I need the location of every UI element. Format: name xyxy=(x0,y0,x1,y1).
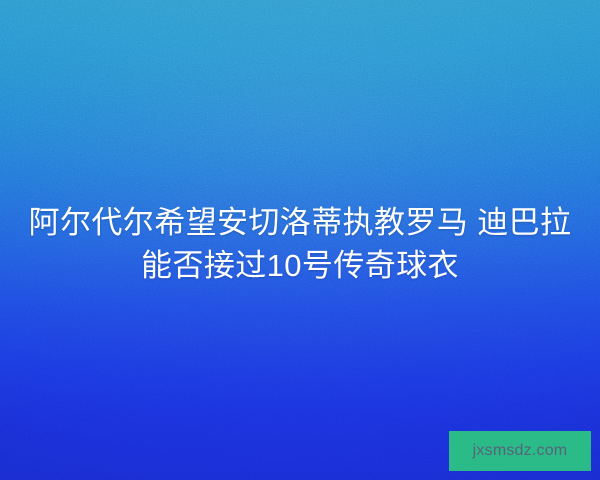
watermark-badge: jxsmsdz.com xyxy=(449,431,591,471)
watermark-label: jxsmsdz.com xyxy=(473,443,568,459)
banner-image: 阿尔代尔希望安切洛蒂执教罗马 迪巴拉 能否接过10号传奇球衣 jxsmsdz.c… xyxy=(0,0,600,480)
headline-text: 阿尔代尔希望安切洛蒂执教罗马 迪巴拉 能否接过10号传奇球衣 xyxy=(0,201,600,287)
